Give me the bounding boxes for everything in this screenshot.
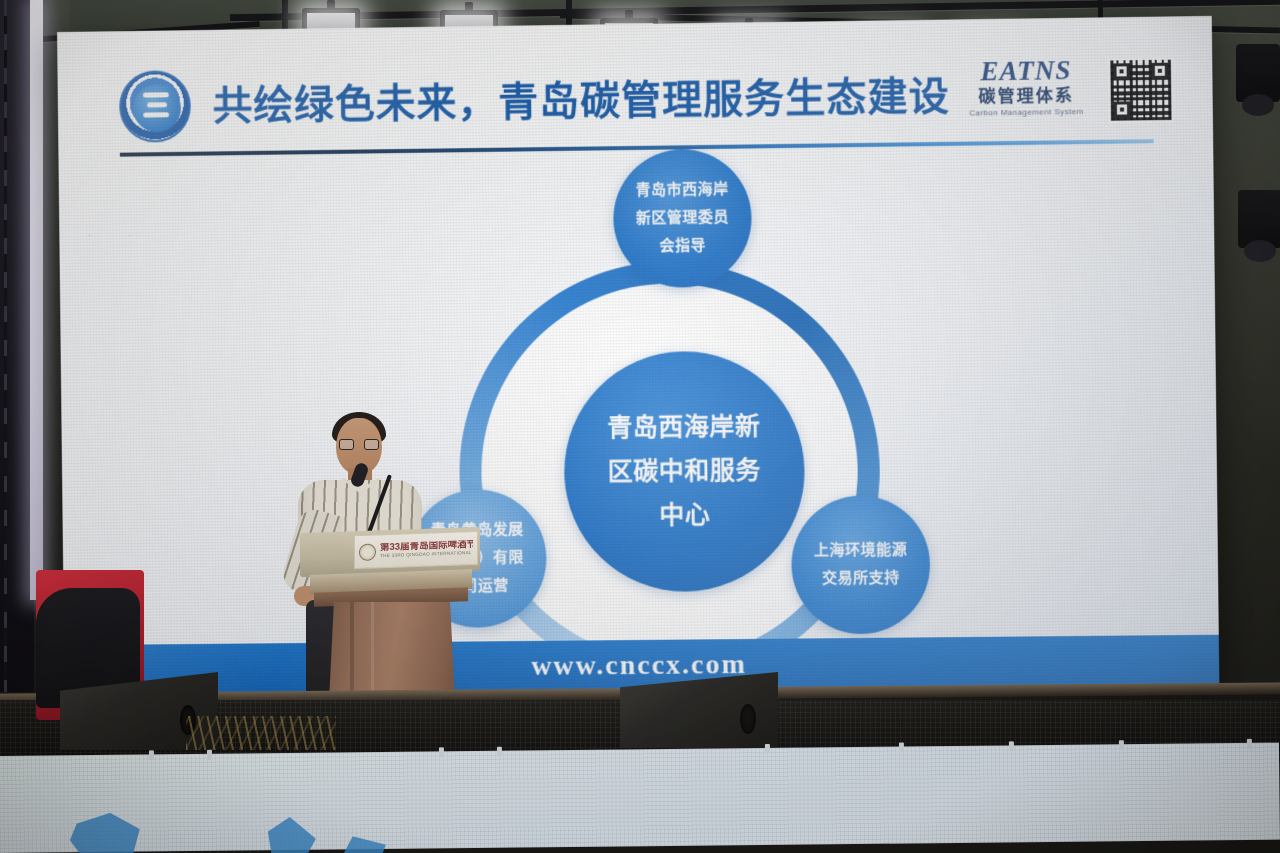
center-node-line: 青岛西海岸新 bbox=[607, 413, 760, 441]
diagram-node-bottom-right: 上海环境能源 交易所支持 bbox=[791, 495, 931, 635]
node-line: 上海环境能源 bbox=[814, 543, 908, 560]
beer-festival-emblem-icon bbox=[359, 543, 376, 561]
left-truss-stack bbox=[0, 0, 34, 700]
moving-head-light-icon bbox=[1238, 190, 1280, 248]
node-line: 交易所支持 bbox=[822, 570, 900, 587]
presentation-slide: 共绘绿色未来，青岛碳管理服务生态建设 EATNS 碳管理体系 Carbon Ma… bbox=[57, 16, 1219, 697]
eatns-circular-logo-icon bbox=[119, 70, 191, 143]
center-node-line: 中心 bbox=[659, 502, 710, 529]
led-screen: 共绘绿色未来，青岛碳管理服务生态建设 EATNS 碳管理体系 Carbon Ma… bbox=[57, 16, 1219, 697]
node-line: 会指导 bbox=[659, 238, 706, 254]
podium-sign-en: THE 33RD QINGDAO INTERNATIONAL BEER FEST… bbox=[380, 551, 473, 559]
brand-block: EATNS 碳管理体系 Carbon Management System bbox=[960, 56, 1091, 119]
stage-cables bbox=[186, 716, 336, 750]
center-node-line: 区碳中和服务 bbox=[608, 458, 761, 486]
diagram-node-top: 青岛市西海岸 新区管理委员 会指导 bbox=[613, 148, 753, 288]
barrier-graphic-shape bbox=[70, 813, 141, 853]
glasses-icon bbox=[339, 439, 379, 450]
page-title: 共绘绿色未来，青岛碳管理服务生态建设 bbox=[212, 64, 950, 132]
barrier-graphic-shape bbox=[340, 836, 386, 853]
node-line: 新区管理委员 bbox=[636, 210, 729, 227]
ecosystem-diagram: 青岛西海岸新 区碳中和服务 中心 青岛市西海岸 新区管理委员 会指导 青岛黄岛发… bbox=[59, 146, 1219, 659]
vertical-light-strip bbox=[30, 0, 43, 600]
foreground-led-barrier bbox=[0, 743, 1280, 853]
brand-name-en: Carbon Management System bbox=[961, 108, 1092, 118]
brand-name: EATNS bbox=[960, 56, 1091, 86]
moving-head-light-icon bbox=[1236, 44, 1280, 102]
footer-url: www.cnccx.com bbox=[531, 649, 747, 683]
diagram-center-node: 青岛西海岸新 区碳中和服务 中心 bbox=[563, 350, 806, 593]
brand-name-cn: 碳管理体系 bbox=[961, 87, 1092, 107]
barrier-graphic-shape bbox=[268, 817, 317, 853]
qr-code-icon bbox=[1107, 57, 1174, 124]
stage-scene: 共绘绿色未来，青岛碳管理服务生态建设 EATNS 碳管理体系 Carbon Ma… bbox=[0, 0, 1280, 853]
podium-sign: 第33届青岛国际啤酒节 THE 33RD QINGDAO INTERNATION… bbox=[354, 531, 478, 569]
node-line: 青岛市西海岸 bbox=[636, 182, 729, 199]
